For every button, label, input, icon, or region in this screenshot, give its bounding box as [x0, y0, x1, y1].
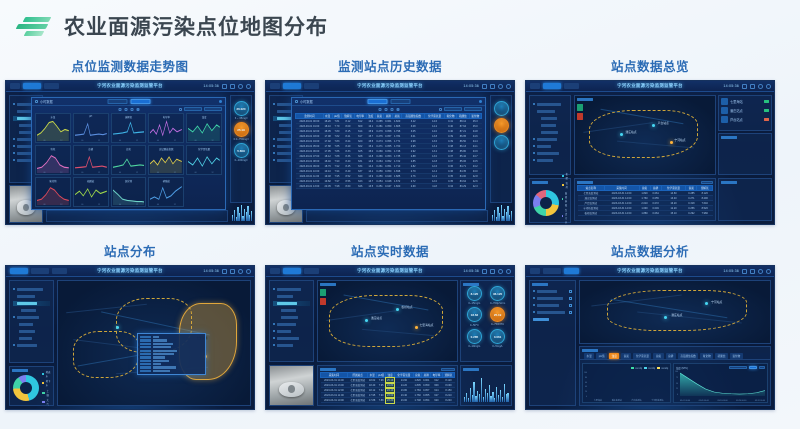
bar-legend: 2021年 2022年 2023年 [631, 366, 668, 370]
tree-node [13, 322, 50, 327]
gauge-dial [494, 118, 509, 133]
refresh-icon[interactable] [136, 108, 139, 111]
export-icon[interactable] [390, 108, 393, 111]
gauge-dial: 25.19 [490, 307, 505, 322]
sidebar-tree[interactable] [529, 95, 571, 175]
table-cell: 7.980 [697, 211, 713, 216]
gauge-unit: 6 ~ 35mg/l [235, 117, 248, 120]
tree-node [273, 294, 310, 299]
date-range-picker[interactable] [179, 107, 222, 111]
nav-analysis[interactable] [564, 83, 579, 89]
table-cell: 8.60 [342, 184, 354, 189]
tree-node [273, 287, 310, 292]
user-avatar[interactable] [506, 269, 511, 274]
axis-tick-label: 宁河桥监测站 [651, 399, 663, 402]
station-list[interactable] [529, 280, 576, 406]
history-table: 监测时间水温pH值溶解氧电导率浊度氨氮总磷总氮高锰酸盐指数化学需氧量氟化物硫酸盐… [295, 113, 482, 189]
list-item [533, 317, 572, 322]
station-icon [721, 116, 728, 123]
status-cards[interactable]: 七里海站 潘庄站点 芦台站点 [718, 95, 772, 131]
axis-tick-label: 七里海站 [594, 399, 602, 402]
tab-ammonia[interactable]: 氨氮 [621, 353, 631, 359]
screenshot-overview[interactable]: 宁河农业面源污染监测监管平台 14:05:36 [525, 80, 775, 225]
topbar-tools[interactable]: 14:05:36 [723, 84, 771, 89]
grid-view-icon[interactable] [378, 108, 381, 111]
station-icon [721, 107, 728, 114]
calendar-icon [179, 108, 182, 111]
date-range-picker[interactable] [439, 107, 482, 111]
history-table-wrap[interactable]: 监测时间水温pH值溶解氧电导率浊度氨氮总磷总氮高锰酸盐指数化学需氧量氟化物硫酸盐… [295, 113, 482, 207]
date-from-input[interactable] [444, 107, 462, 111]
status-card: 芦台站点 [721, 116, 769, 123]
tab-fluoride[interactable]: 氟化物 [700, 353, 713, 359]
mini-chart[interactable]: 电导率 0012 [148, 113, 184, 143]
user-avatar[interactable] [246, 84, 251, 89]
table-cell: 8.240 [442, 398, 454, 403]
axis-tick-label: 芦台监测站 [632, 399, 642, 402]
axis-tick-label: 03-01 00:00 [680, 400, 690, 402]
tree-node [533, 137, 567, 142]
table-cell: 620 [430, 398, 442, 403]
tab-realtime[interactable] [390, 99, 410, 104]
tab-history[interactable] [367, 99, 387, 104]
table-cell: 七里海监测站 [347, 383, 367, 388]
chart-icon[interactable] [222, 269, 227, 274]
status-badge [764, 100, 769, 103]
checkbox[interactable] [569, 290, 572, 293]
timeline-strip[interactable] [46, 210, 228, 222]
mini-chart[interactable]: 浊度 0012 [186, 113, 222, 143]
clock: 14:05:36 [203, 269, 219, 273]
screenshot-realtime[interactable]: 宁河农业面源污染监测监管平台 14:05:36 [265, 265, 515, 410]
metric-tabs[interactable]: 水温 pH值 浊度 氨氮 化学需氧量 总氮 总磷 高锰酸盐指数 氟化物 硫酸盐 … [580, 353, 770, 360]
spectrum-mini [232, 203, 252, 221]
table-cell: 1.880 [639, 211, 650, 216]
gauge-item [493, 101, 509, 116]
panel-analysis: 站点数据分析 宁河农业面源污染监测监管平台 14:05:36 [520, 243, 780, 410]
chart-icon[interactable] [742, 269, 747, 274]
nav-home[interactable] [530, 268, 540, 274]
message-icon[interactable] [230, 269, 235, 274]
nav-home[interactable] [270, 83, 280, 89]
gauge-unit: 0~50℃ [470, 323, 479, 327]
table-cell: 0.292 [686, 211, 697, 216]
bell-icon[interactable] [238, 84, 243, 89]
gauge-dial: 0.285 [467, 329, 482, 344]
gauge-dial: 0.061 [490, 329, 505, 344]
tab-chloride[interactable]: 氯化物 [730, 353, 743, 359]
donut-legend: 地表水 地下水 土壤 大气 [42, 370, 51, 406]
gauge-unit: 0~100mg/l [235, 159, 248, 162]
screenshot-analysis[interactable]: 宁河农业面源污染监测监管平台 14:05:36 [525, 265, 775, 410]
timeline-strip[interactable] [306, 210, 488, 222]
table-cell: 2023-03-31 14:00 [604, 211, 639, 216]
table-cell: 13.00 [394, 398, 413, 403]
status-card: 七里海站 [721, 98, 769, 105]
tree-node [13, 308, 50, 313]
mini-chart[interactable]: 硝酸盐 0012 [148, 177, 184, 207]
screenshot-trend[interactable]: 宁河农业面源污染监测监管平台 14:05:36 [5, 80, 255, 225]
donut-panel: 地表水 地下水 土壤 大气 [9, 366, 54, 406]
tab-tn[interactable]: 总氮 [653, 353, 663, 359]
nav-monitor[interactable] [543, 83, 561, 89]
app-title: 宁河农业面源污染监测监管平台 [357, 268, 423, 274]
close-icon[interactable] [479, 100, 482, 103]
topbar-nav[interactable] [530, 83, 579, 89]
message-icon[interactable] [490, 269, 495, 274]
overview-table-panel[interactable]: 站点名称采集时间总氮总磷化学需氧量氨氮溶解氧 七里海监测站2023-03-31 … [574, 178, 716, 221]
spectrum-panel [460, 365, 512, 406]
tree-node [273, 315, 310, 320]
station-info-popup[interactable] [137, 333, 206, 375]
table-cell: 1.660 [393, 184, 402, 189]
grid-view-icon[interactable] [118, 108, 121, 111]
gauge-unit: 0~5mg/L [492, 345, 503, 348]
donut-panel: 化肥 农药 畜禽养殖 生活污水 秸秆 [529, 178, 571, 223]
tree-node [273, 322, 310, 327]
mini-chart[interactable]: 氯化物 0012 [111, 177, 147, 207]
date-from-input[interactable] [184, 107, 202, 111]
table-cell: 7.88 [376, 398, 385, 403]
list-item [533, 310, 572, 315]
nav-analysis[interactable] [564, 268, 579, 274]
table-cell: 七里海监测站 [347, 398, 367, 403]
station-photo [269, 365, 314, 406]
tree-node [533, 116, 567, 121]
table-row[interactable]: 板桥监测站2023-03-31 14:001.8800.06415.100.29… [578, 211, 713, 216]
grouped-bar-chart[interactable]: 2021年 2022年 2023年 100806040200 七里海站潘庄监测站… [582, 363, 671, 403]
gauge-unit: 0~10mg/L [468, 345, 480, 348]
status-badge [764, 109, 769, 112]
tree-node [533, 123, 567, 128]
clock: 14:05:36 [463, 269, 479, 273]
gauge-item: 5.609 0~100mg/l [233, 143, 249, 162]
nav-home[interactable] [10, 83, 20, 89]
nav-analysis[interactable] [52, 268, 67, 274]
station-map[interactable]: 潘庄站点 板桥站点 七里海站点 [317, 280, 458, 362]
mini-chart[interactable]: 氟化物 0012 [35, 177, 71, 207]
table-cell: 1.748 [413, 398, 422, 403]
mini-chart[interactable]: pH 0012 [73, 113, 109, 143]
table-icon [35, 100, 38, 103]
tab-realtime[interactable] [130, 99, 150, 104]
table-cell: 七里海监测站 [347, 388, 367, 393]
tree-node-selected [13, 301, 50, 306]
modal-header: 小时数据 [32, 98, 225, 106]
nav-analysis[interactable] [44, 83, 59, 89]
panel-grid: 点位监测数据走势图 宁河农业面源污染监测监管平台 14:05:36 [0, 58, 800, 429]
table-cell: 83.29 [457, 184, 469, 189]
gauge-dial: 18.62 [467, 307, 482, 322]
nav-home[interactable] [10, 268, 28, 274]
app-title: 宁河农业面源污染监测监管平台 [617, 268, 683, 274]
checkbox[interactable] [569, 311, 572, 314]
table-cell: 0.34 [444, 184, 456, 189]
user-avatar[interactable] [246, 269, 251, 274]
table-cell: 42.3 [469, 184, 481, 189]
mini-chart-grid: 水温 0012 pH 0012 溶解氧 0012 电导率 0012 浊度 [35, 113, 222, 207]
panel-title-history: 监测站点历史数据 [260, 58, 520, 80]
table-cell: 0.064 [650, 211, 661, 216]
topbar-nav[interactable] [530, 268, 579, 274]
table-cell: 23.20 [386, 398, 395, 403]
axis-tick-label: 03-20 00:00 [736, 400, 746, 402]
message-icon[interactable] [230, 84, 235, 89]
app-topbar: 宁河农业面源污染监测监管平台 14:05:36 [266, 81, 514, 92]
table-cell: 17.88 [368, 398, 377, 403]
export-icon[interactable] [130, 108, 133, 111]
gauge-dial: 5.609 [234, 143, 249, 158]
refresh-icon[interactable] [396, 108, 399, 111]
tab-cod[interactable]: 化学需氧量 [633, 353, 651, 359]
chart-icon[interactable] [482, 84, 487, 89]
panel-title-trend: 点位监测数据走势图 [0, 58, 260, 80]
tab-permanganate[interactable]: 高锰酸盐指数 [678, 353, 699, 359]
gauge-dial [494, 135, 509, 150]
gauge-strip: 36.020 6 ~ 35mg/l 25.19 0.0~750mg/l 5.60… [230, 95, 252, 203]
panel-overview: 站点数据总览 宁河农业面源污染监测监管平台 14:05:36 [520, 58, 780, 225]
clock: 14:05:36 [723, 84, 739, 88]
bell-icon[interactable] [498, 269, 503, 274]
date-range-input[interactable] [729, 366, 747, 370]
gauge-unit: 0.0~750mg/l [234, 138, 249, 141]
export-button[interactable] [759, 366, 765, 370]
panel-title-analysis: 站点数据分析 [520, 243, 780, 265]
nav-home[interactable] [530, 83, 540, 89]
tab-sulfate[interactable]: 硫酸盐 [715, 353, 728, 359]
donut-chart[interactable]: 化肥 农药 畜禽养殖 生活污水 秸秆 [533, 185, 568, 220]
axis-tick-label: 潘庄监测站 [612, 399, 622, 402]
modal-title: 小时数据 [300, 99, 313, 104]
list-view-icon[interactable] [124, 108, 127, 111]
gauge-item [493, 118, 509, 133]
modal-header: 小时数据 [292, 98, 485, 106]
gauge-item: 36.120 0~700μS/cm [487, 286, 508, 305]
list-view-icon[interactable] [384, 108, 387, 111]
status-card: 潘庄站点 [721, 107, 769, 114]
tab-ph[interactable]: pH值 [596, 353, 607, 359]
screenshot-distribution[interactable]: 宁河农业面源污染监测监管平台 14:05:36 [5, 265, 255, 410]
tree-node [533, 109, 567, 114]
panel-trend: 点位监测数据走势图 宁河农业面源污染监测监管平台 14:05:36 [0, 58, 260, 225]
user-avatar[interactable] [766, 84, 771, 89]
page-header: 农业面源污染点位地图分布 [0, 0, 800, 52]
modal-toolbar[interactable] [378, 108, 399, 111]
tree-node [273, 343, 310, 348]
bar-y-axis: 100806040200 [584, 372, 587, 398]
tree-node [533, 102, 567, 107]
panel-title-overview: 站点数据总览 [520, 58, 780, 80]
checkbox[interactable] [569, 297, 572, 300]
sidebar-tree[interactable] [9, 280, 54, 363]
gauge-unit: 0~750NTU [491, 323, 504, 326]
compare-bar-panel [718, 178, 772, 221]
bell-icon[interactable] [238, 269, 243, 274]
gauge-dial: 36.120 [490, 286, 505, 301]
app-title: 宁河农业面源污染监测监管平台 [357, 83, 423, 89]
query-button[interactable] [749, 366, 757, 370]
table-cell: 0.054 [422, 398, 431, 403]
tree-node [13, 329, 50, 334]
tree-node [533, 144, 567, 149]
table-cell: 0.047 [384, 184, 393, 189]
station-map[interactable]: 潘庄站点 芦台站点 宁河站点 [574, 95, 716, 175]
status-badge [764, 118, 769, 121]
table-cell: 646 [354, 184, 366, 189]
tree-node [13, 294, 50, 299]
axis-tick-label: 03-10 00:00 [717, 400, 727, 402]
nav-analysis[interactable] [304, 268, 319, 274]
message-icon[interactable] [750, 269, 755, 274]
gauge-item: 25.19 0.0~750mg/l [233, 122, 249, 141]
modal-title: 小时数据 [40, 99, 53, 104]
export-button[interactable] [441, 368, 455, 371]
gauge-dial [494, 101, 509, 116]
table-icon [295, 100, 298, 103]
spectrum-mini [492, 203, 512, 221]
chart-icon[interactable] [742, 84, 747, 89]
mini-chart[interactable]: 氨氮 0012 [35, 145, 71, 175]
table-cell: 0.251 [375, 184, 384, 189]
tree-node [533, 130, 567, 135]
mini-chart[interactable]: 总磷 0012 [73, 145, 109, 175]
topbar-nav[interactable] [270, 268, 319, 274]
table-cell: 20.05 [323, 184, 332, 189]
axis-tick-label: 03-05 00:00 [699, 400, 709, 402]
date-to-input[interactable] [464, 107, 482, 111]
table-cell: 2023-03-31 10:00 [321, 398, 348, 403]
gauge-item: 8.120 0~15mg/L [464, 286, 485, 305]
chart-icon[interactable] [482, 269, 487, 274]
gauge-dial: 8.120 [467, 286, 482, 301]
bell-icon[interactable] [758, 269, 763, 274]
topbar-nav[interactable] [10, 268, 67, 274]
app-topbar: 宁河农业面源污染监测监管平台 14:05:36 [6, 266, 254, 277]
table-cell: 15.10 [661, 211, 686, 216]
chart-icon[interactable] [222, 84, 227, 89]
gauge-unit: 0~700μS/cm [490, 302, 505, 305]
mini-chart[interactable]: 化学需氧量 0012 [186, 145, 222, 175]
app-topbar: 宁河农业面源污染监测监管平台 14:05:36 [526, 266, 774, 277]
panel-history: 监测站点历史数据 宁河农业面源污染监测监管平台 14:05:36 [260, 58, 520, 225]
table-cell: 2023-03-01 13:00 [296, 184, 324, 189]
analysis-panel: 水温 pH值 浊度 氨氮 化学需氧量 总氮 总磷 高锰酸盐指数 氟化物 硫酸盐 … [579, 346, 771, 406]
realtime-table-panel[interactable]: 采集时间所属站点水温pH值浊度化学需氧量总氮总磷电导率溶解氧 2023-03-3… [317, 365, 458, 406]
trend-modal[interactable]: 小时数据 [31, 97, 226, 210]
table-cell: 板桥监测站 [578, 211, 605, 216]
clock: 14:05:36 [723, 269, 739, 273]
tab-turbidity[interactable]: 浊度 [609, 353, 619, 359]
tab-tp[interactable]: 总磷 [666, 353, 676, 359]
bell-icon[interactable] [758, 84, 763, 89]
nav-monitor[interactable] [543, 268, 561, 274]
app-topbar: 宁河农业面源污染监测监管平台 14:05:36 [266, 266, 514, 277]
export-button[interactable] [701, 181, 713, 184]
topbar-nav[interactable] [270, 83, 319, 89]
tree-node [273, 329, 310, 334]
page-title: 农业面源污染点位地图分布 [64, 11, 328, 41]
date-to-input[interactable] [204, 107, 222, 111]
topbar-tools[interactable]: 14:05:36 [463, 84, 511, 89]
mini-chart[interactable]: 硫酸盐 0012 [73, 177, 109, 207]
donut-ring [533, 190, 559, 216]
mini-chart[interactable]: 水温 0012 [35, 113, 71, 143]
topbar-nav[interactable] [10, 83, 59, 89]
tree-node [13, 336, 50, 341]
gauge-dial: 36.020 [234, 101, 249, 116]
message-icon[interactable] [750, 84, 755, 89]
leaf-logo-icon [14, 12, 54, 40]
donut-ring [13, 375, 39, 401]
gauge-item: 0.061 0~5mg/L [487, 329, 508, 348]
table-row[interactable]: 2023-03-01 13:0020.057.988.6064613.50.25… [296, 184, 482, 189]
mini-chart[interactable]: 高锰酸盐指数 0012 [148, 145, 184, 175]
nav-monitor[interactable] [283, 268, 301, 274]
station-icon [721, 98, 728, 105]
region-map[interactable]: 七里海镇 [57, 280, 251, 406]
panel-realtime: 站点实时数据 宁河农业面源污染监测监管平台 14:05:36 [260, 243, 520, 410]
gauge-item: 36.020 6 ~ 35mg/l [233, 101, 249, 120]
clock: 14:05:36 [463, 84, 479, 88]
nav-monitor[interactable] [23, 83, 41, 89]
table-row[interactable]: 2023-03-31 10:00七里海监测站17.887.8823.2013.0… [321, 398, 455, 403]
area-y-axis: 1007550250 [675, 371, 678, 396]
area-chart[interactable]: 浊度 (NTU) 1007550250 [673, 363, 768, 403]
app-title: 宁河农业面源污染监测监管平台 [97, 268, 163, 274]
topbar-tools[interactable]: 14:05:36 [723, 269, 771, 274]
area-plot [680, 371, 765, 396]
nav-monitor[interactable] [31, 268, 49, 274]
topbar-tools[interactable]: 14:05:36 [203, 84, 251, 89]
close-icon[interactable] [219, 100, 222, 103]
gauge-strip [490, 95, 512, 203]
tab-history[interactable] [107, 99, 127, 104]
map-legend [320, 289, 326, 305]
table-cell: 13.5 [366, 184, 375, 189]
area-chart-title: 浊度 (NTU) [676, 366, 688, 370]
screenshot-history[interactable]: 宁河农业面源污染监测监管平台 14:05:36 [265, 80, 515, 225]
donut-chart[interactable]: 地表水 地下水 土壤 大气 [13, 373, 51, 403]
history-modal[interactable]: 小时数据 [291, 97, 486, 210]
gauge-unit: 0~15mg/L [468, 302, 480, 305]
panel-title-distribution: 站点分布 [0, 243, 260, 265]
tree-node [13, 343, 50, 348]
nav-analysis[interactable] [304, 83, 319, 89]
topbar-tools[interactable]: 14:05:36 [203, 269, 251, 274]
bar-x-axis: 七里海站潘庄监测站芦台监测站宁河桥监测站 [589, 399, 668, 402]
map-legend [577, 104, 583, 120]
mini-chart[interactable]: 溶解氧 0012 [111, 113, 147, 143]
bell-icon[interactable] [498, 84, 503, 89]
user-avatar[interactable] [766, 269, 771, 274]
checkbox[interactable] [569, 304, 572, 307]
analysis-map[interactable]: 潘庄站点 宁河站点 [579, 280, 771, 344]
user-avatar[interactable] [506, 84, 511, 89]
modal-toolbar[interactable] [118, 108, 139, 111]
app-title: 宁河农业面源污染监测监管平台 [97, 83, 163, 89]
sidebar-tree[interactable] [269, 280, 314, 362]
mini-chart[interactable]: 总氮 0012 [111, 145, 147, 175]
app-topbar: 宁河农业面源污染监测监管平台 14:05:36 [6, 81, 254, 92]
topbar-tools[interactable]: 14:05:36 [463, 269, 511, 274]
gauge-item [493, 135, 509, 150]
tab-water-temp[interactable]: 水温 [584, 353, 594, 359]
message-icon[interactable] [490, 84, 495, 89]
nav-home[interactable] [270, 268, 280, 274]
table-cell: 7.98 [332, 184, 342, 189]
nav-monitor[interactable] [283, 83, 301, 89]
panel-title-realtime: 站点实时数据 [260, 243, 520, 265]
